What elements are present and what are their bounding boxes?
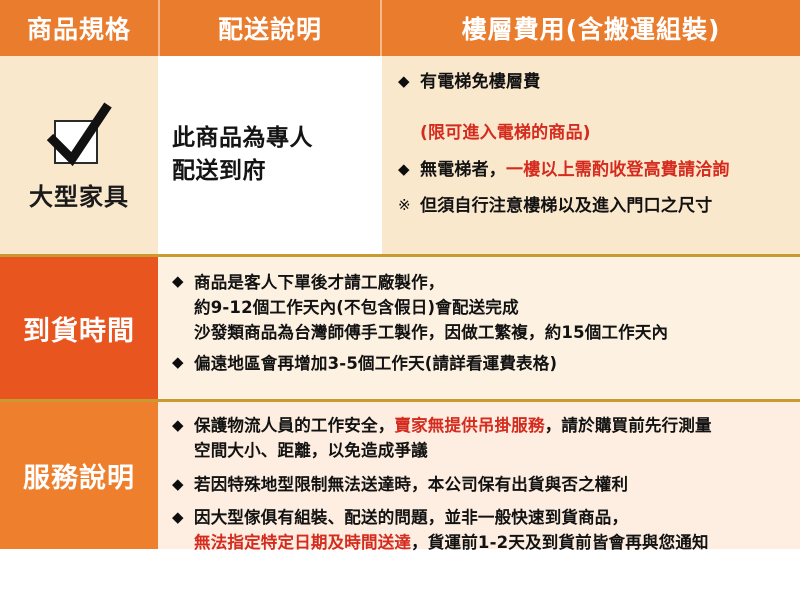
list-item-text: 保護物流人員的工作安全，賣家無提供吊掛服務，請於購買前先行測量空間大小、距離，以… — [194, 414, 792, 464]
delivery-info-table: 商品規格 配送說明 樓層費用(含搬運組裝) 大型家具 此商品為專人 配送到府 ◆ — [0, 0, 800, 595]
text-line: 商品是客人下單後才請工廠製作， — [194, 270, 792, 295]
header-label-floor-fee: 樓層費用(含搬運組裝) — [462, 10, 721, 46]
row2-content-cell: ◆ 商品是客人下單後才請工廠製作， 約9-12個工作天內(不包含假日)會配送完成… — [158, 257, 800, 399]
row1-floor-fee-cell: ◆ 有電梯免樓層費 (限可進入電梯的商品) ◆ 無電梯者，一樓以上需酌收登高費請… — [382, 56, 800, 254]
header-cell-product-spec: 商品規格 — [0, 0, 158, 56]
row1-delivery-note-cell: 此商品為專人 配送到府 — [158, 56, 382, 254]
bullet-reference-mark-icon: ※ — [398, 194, 420, 220]
list-item-text: 無電梯者，一樓以上需酌收登高費請洽詢 — [420, 158, 790, 184]
list-item: ◆ 無電梯者，一樓以上需酌收登高費請洽詢 — [398, 158, 790, 184]
list-item: ◆ 商品是客人下單後才請工廠製作， 約9-12個工作天內(不包含假日)會配送完成… — [172, 270, 792, 345]
text-segment: 因大型傢俱有組裝、配送的問題，並非一般快速到貨商品， — [194, 508, 628, 527]
text-segment-red: (限可進入電梯的商品) — [420, 123, 591, 143]
header-label-delivery-note: 配送說明 — [218, 10, 322, 46]
list-item-text: 商品是客人下單後才請工廠製作， 約9-12個工作天內(不包含假日)會配送完成 沙… — [194, 270, 792, 345]
text-segment: 有電梯免樓層費 — [420, 72, 540, 92]
row2-label-cell: 到貨時間 — [0, 257, 158, 399]
table-row-large-furniture: 大型家具 此商品為專人 配送到府 ◆ 有電梯免樓層費 (限可進入電梯的商品) ◆… — [0, 56, 800, 257]
header-label-product-spec: 商品規格 — [27, 10, 131, 46]
list-item: ◆ 偏遠地區會再增加3-5個工作天(請詳看運費表格) — [172, 351, 792, 376]
bullet-diamond-icon: ◆ — [172, 414, 194, 464]
row3-label-text: 服務說明 — [23, 456, 135, 495]
bullet-diamond-icon: ◆ — [172, 473, 194, 498]
bullet-diamond-icon: ◆ — [398, 158, 420, 184]
checked-checkbox-icon — [42, 99, 116, 173]
text-segment-red: 賣家無提供吊掛服務 — [394, 416, 544, 435]
list-item-text: 有電梯免樓層費 (限可進入電梯的商品) — [420, 70, 790, 147]
list-item-text: 偏遠地區會再增加3-5個工作天(請詳看運費表格) — [194, 351, 792, 376]
text-segment: 保護物流人員的工作安全， — [194, 416, 394, 435]
row1-label-cell: 大型家具 — [0, 56, 158, 254]
header-cell-floor-fee: 樓層費用(含搬運組裝) — [382, 0, 800, 56]
text-segment: ，貨運前1-2天及到貨前皆會再與您通知 — [411, 533, 709, 552]
list-item-text: 但須自行注意樓梯以及進入門口之尺寸 — [420, 194, 790, 220]
text-line: 沙發類商品為台灣師傅手工製作，因做工繁複，約15個工作天內 — [194, 320, 792, 345]
bullet-diamond-icon: ◆ — [398, 70, 420, 147]
list-item: ◆ 若因特殊地型限制無法送達時，本公司保有出貨與否之權利 — [172, 473, 792, 498]
text-line: 約9-12個工作天內(不包含假日)會配送完成 — [194, 295, 792, 320]
list-item: ◆ 保護物流人員的工作安全，賣家無提供吊掛服務，請於購買前先行測量空間大小、距離… — [172, 414, 792, 464]
text-segment: ，請於購買前先行測量 — [545, 416, 712, 435]
text-line: 空間大小、距離，以免造成爭議 — [194, 441, 428, 460]
text-segment-red: 一樓以上需酌收登高費請洽詢 — [506, 160, 730, 180]
list-item: ◆ 因大型傢俱有組裝、配送的問題，並非一般快速到貨商品，無法指定特定日期及時間送… — [172, 506, 792, 556]
bullet-diamond-icon: ◆ — [172, 270, 194, 345]
row3-label-cell: 服務說明 — [0, 402, 158, 549]
table-row-service-notes: 服務說明 ◆ 保護物流人員的工作安全，賣家無提供吊掛服務，請於購買前先行測量空間… — [0, 402, 800, 549]
list-item: ◆ 有電梯免樓層費 (限可進入電梯的商品) — [398, 70, 790, 147]
list-item: ※ 但須自行注意樓梯以及進入門口之尺寸 — [398, 194, 790, 220]
row2-label-text: 到貨時間 — [23, 309, 135, 348]
bullet-diamond-icon: ◆ — [172, 506, 194, 556]
list-item-text: 因大型傢俱有組裝、配送的問題，並非一般快速到貨商品，無法指定特定日期及時間送達，… — [194, 506, 792, 556]
row3-content-cell: ◆ 保護物流人員的工作安全，賣家無提供吊掛服務，請於購買前先行測量空間大小、距離… — [158, 402, 800, 549]
table-header-row: 商品規格 配送說明 樓層費用(含搬運組裝) — [0, 0, 800, 56]
list-item-text: 若因特殊地型限制無法送達時，本公司保有出貨與否之權利 — [194, 473, 792, 498]
table-row-arrival-time: 到貨時間 ◆ 商品是客人下單後才請工廠製作， 約9-12個工作天內(不包含假日)… — [0, 257, 800, 402]
header-cell-delivery-note: 配送說明 — [158, 0, 382, 56]
text-segment: 無電梯者， — [420, 160, 506, 180]
bullet-diamond-icon: ◆ — [172, 351, 194, 376]
row1-label-text: 大型家具 — [29, 177, 129, 212]
row1-delivery-note-text: 此商品為專人 配送到府 — [172, 122, 313, 187]
text-segment-red: 無法指定特定日期及時間送達 — [194, 533, 411, 552]
